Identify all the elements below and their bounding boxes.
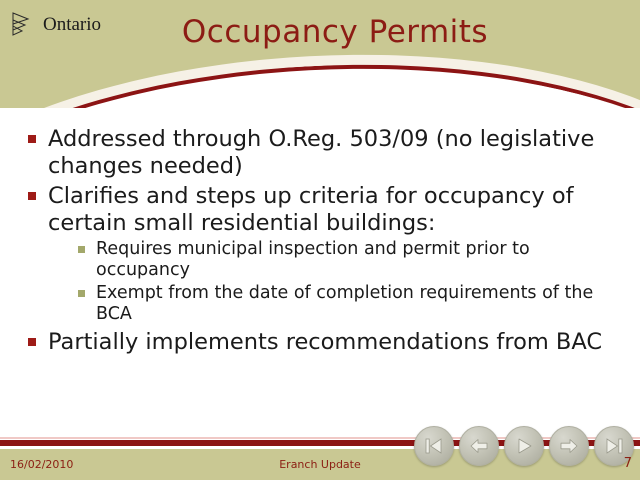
bullet-item: Clarifies and steps up criteria for occu…	[22, 183, 620, 325]
bullet-text: Clarifies and steps up criteria for occu…	[48, 183, 574, 236]
slide-number: 7	[624, 456, 632, 471]
play-icon	[513, 436, 535, 456]
bullet-list-level1: Addressed through O.Reg. 503/09 (no legi…	[0, 126, 640, 356]
sub-bullet-square-icon	[78, 290, 85, 297]
presentation-slide: Ontario Occupancy Permits Addressed thro…	[0, 0, 640, 480]
bullet-list-level2: Requires municipal inspection and permit…	[48, 239, 620, 325]
arrow-right-icon	[558, 436, 580, 456]
slide-body: Addressed through O.Reg. 503/09 (no legi…	[0, 126, 640, 426]
bullet-text: Addressed through O.Reg. 503/09 (no legi…	[48, 126, 594, 179]
sub-bullet-item: Exempt from the date of completion requi…	[76, 283, 620, 325]
sub-bullet-text: Exempt from the date of completion requi…	[96, 283, 593, 324]
skip-to-end-icon	[603, 436, 625, 456]
arrow-left-icon	[468, 436, 490, 456]
bullet-square-icon	[28, 135, 36, 143]
bullet-square-icon	[28, 192, 36, 200]
bullet-item: Partially implements recommendations fro…	[22, 329, 620, 356]
sub-bullet-square-icon	[78, 246, 85, 253]
bullet-text: Partially implements recommendations fro…	[48, 329, 602, 355]
sub-bullet-text: Requires municipal inspection and permit…	[96, 239, 530, 280]
bullet-square-icon	[28, 338, 36, 346]
skip-to-start-icon	[423, 436, 445, 456]
sub-bullet-item: Requires municipal inspection and permit…	[76, 239, 620, 281]
footer-label: Eranch Update	[0, 458, 640, 471]
page-title: Occupancy Permits	[0, 14, 640, 50]
bullet-item: Addressed through O.Reg. 503/09 (no legi…	[22, 126, 620, 179]
